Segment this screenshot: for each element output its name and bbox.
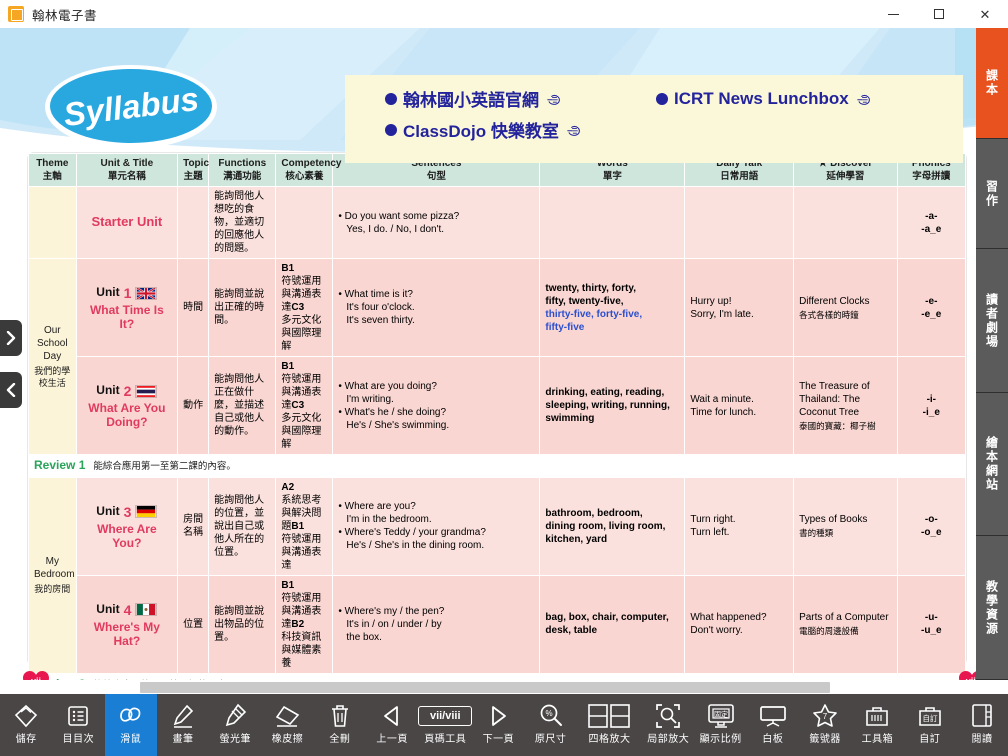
- toolbar-trash[interactable]: 全刪: [314, 694, 366, 756]
- table-header-4: Competency核心素養: [276, 154, 333, 187]
- competency-code: B2: [291, 619, 304, 630]
- competency-code: B1: [281, 361, 294, 372]
- bullet-icon: [385, 124, 397, 136]
- sentence-line: • Where are you?: [338, 500, 534, 513]
- unit-number: Unit 2: [96, 382, 157, 400]
- word-line: swimming: [545, 413, 594, 424]
- phonics-cell: -a--a_e: [897, 187, 965, 259]
- sentences-cell: • Where are you?I'm in the bedroom.• Whe…: [333, 477, 540, 575]
- sentence-line: • What's he / she doing?: [338, 406, 534, 419]
- table-header-0: Theme主軸: [29, 154, 77, 187]
- competency-code: C3: [291, 302, 304, 313]
- phonics-line: -o-: [925, 514, 938, 525]
- daily-talk-line: Time for lunch.: [690, 407, 756, 418]
- topic-cell: 動作: [178, 357, 209, 455]
- theme-cell: My Bedroom我的房間: [29, 477, 77, 673]
- whiteboard-icon: [759, 699, 787, 733]
- review-row: Review 2能綜合應用第三至第四課的內容。: [29, 673, 966, 680]
- table-row: Starter Unit能詢問他人想吃的食物，並適切的回應他人的問題。• Do …: [29, 187, 966, 259]
- table-header-1: Unit & Title單元名稱: [76, 154, 177, 187]
- words-cell: [540, 187, 685, 259]
- unit-title: Where's My Hat?: [82, 621, 172, 649]
- header-zh: 主題: [183, 171, 203, 183]
- rail-tab-label: 習作: [984, 180, 1001, 208]
- rail-tab-label: 讀者劇場: [984, 293, 1001, 349]
- links-row-1: 翰林國小英語官網 ICRT News Lunchbox: [385, 86, 963, 111]
- link-label: ICRT News Lunchbox: [674, 89, 849, 109]
- header-zh: 日常用語: [690, 171, 788, 183]
- phonics-line: -u_e: [921, 625, 942, 636]
- daily-talk-line: Sorry, I'm late.: [690, 309, 753, 320]
- maximize-button[interactable]: [916, 0, 962, 28]
- app-book-icon: [8, 6, 24, 22]
- svg-text:固定: 固定: [714, 710, 728, 719]
- theme-en: My Bedroom: [34, 556, 75, 580]
- sentence-line: • What time is it?: [338, 288, 534, 301]
- toolbar-label: 局部放大: [647, 735, 689, 745]
- eraser-icon: [275, 699, 301, 733]
- competency-desc: 多元文化與國際理解: [281, 413, 321, 450]
- trash-icon: [329, 699, 351, 733]
- daily-talk-line: Hurry up!: [690, 296, 731, 307]
- word-line: fifty, twenty-five,: [545, 296, 623, 307]
- toolbar-label: 橡皮擦: [272, 735, 304, 745]
- rail-tab-2[interactable]: 讀者劇場: [976, 249, 1008, 393]
- mouse-icon: [117, 699, 145, 733]
- header-en: Competency: [281, 158, 341, 169]
- phonics-line: -o_e: [921, 527, 942, 538]
- words-cell: bag, box, chair, computer,desk, table: [540, 575, 685, 673]
- competency-code: B1: [281, 580, 294, 591]
- heart-icon: vii: [22, 670, 50, 680]
- toolbar-quad-zoom[interactable]: 四格放大: [577, 694, 642, 756]
- daily-talk-cell: What happened?Don't worry.: [685, 575, 794, 673]
- custom-case-icon: 自訂: [917, 699, 943, 733]
- links-panel: 翰林國小英語官網 ICRT News Lunchbox ClassDojo 快樂…: [345, 75, 963, 163]
- toolbar-label: 原尺寸: [535, 735, 567, 745]
- bullet-icon: [385, 93, 397, 105]
- daily-talk-line: Don't worry.: [690, 625, 742, 636]
- toolbar-label: 下一頁: [483, 735, 515, 745]
- link-classdojo[interactable]: ClassDojo 快樂教室: [385, 117, 584, 142]
- sentences-cell: • What time is it?It's four o'clock.It's…: [333, 259, 540, 357]
- pointing-hand-icon: [545, 91, 564, 107]
- unit-num-value: 3: [124, 503, 132, 521]
- competency-cell: A2系統思考與解決問題B1符號運用與溝通表達: [276, 477, 333, 575]
- toolbar-label: 籤號器: [809, 735, 841, 745]
- toolbar-actual-size[interactable]: %原尺寸: [525, 694, 577, 756]
- sentence-line: It's four o'clock.: [338, 301, 534, 314]
- save-diamond-icon: [13, 699, 39, 733]
- daily-talk-line: What happened?: [690, 612, 766, 623]
- topic-cell: 時間: [178, 259, 209, 357]
- window-titlebar: 翰林電子書 ✕: [0, 0, 1008, 28]
- toolbar-eraser[interactable]: 橡皮擦: [261, 694, 313, 756]
- functions-cell: 能詢問他人正在做什麼，並描述自己或他人的動作。: [209, 357, 276, 455]
- toolbar-label: 全刪: [329, 735, 350, 745]
- chevron-left-icon: [6, 383, 16, 397]
- word-line: kitchen, yard: [545, 534, 607, 545]
- link-hanlin-english-site[interactable]: 翰林國小英語官網: [385, 86, 564, 111]
- discover-zh: 泰國的寶藏：椰子樹: [799, 421, 892, 432]
- toolbar-display-ratio[interactable]: 固定顯示比例: [694, 694, 746, 756]
- toolbar-label: 四格放大: [588, 735, 630, 745]
- word-line: drinking, eating, reading,: [545, 387, 664, 398]
- flag-uk-icon: [135, 287, 157, 300]
- phonics-cell: -u--u_e: [897, 575, 965, 673]
- phonics-line: -a_e: [921, 224, 941, 235]
- toolbar-whiteboard[interactable]: 白板: [747, 694, 799, 756]
- discover-cell: Different Clocks各式各樣的時鐘: [794, 259, 898, 357]
- word-line: fifty-five: [545, 322, 584, 333]
- discover-en: Types of Books: [799, 514, 867, 525]
- toolbar-label: 顯示比例: [700, 735, 742, 745]
- toolbar-label: 畫筆: [172, 735, 193, 745]
- daily-talk-line: Turn left.: [690, 527, 729, 538]
- phonics-cell: -o--o_e: [897, 477, 965, 575]
- functions-cell: 能詢問他人想吃的食物，並適切的回應他人的問題。: [209, 187, 276, 259]
- syllabus-table-wrapper: Theme主軸Unit & Title單元名稱Topic主題Functions溝…: [28, 153, 966, 665]
- table-row: Unit 4Where's My Hat?位置能詢問並說出物品的位置。B1符號運…: [29, 575, 966, 673]
- unit-title: Where Are You?: [82, 523, 172, 551]
- unit-number: Unit 1: [96, 284, 157, 302]
- window-title: 翰林電子書: [32, 5, 97, 24]
- region-zoom-icon: [655, 699, 681, 733]
- toc-list-icon: [66, 699, 90, 733]
- toolbar-region-zoom[interactable]: 局部放大: [642, 694, 694, 756]
- review-label: Review 1: [34, 458, 85, 472]
- sentences-cell: • Where's my / the pen?It's in / on / un…: [333, 575, 540, 673]
- theme-cell: Our School Day我們的學校生活: [29, 259, 77, 455]
- toolbar-highlighter[interactable]: 螢光筆: [209, 694, 261, 756]
- svg-text:自訂: 自訂: [922, 713, 937, 723]
- header-en: Topic: [183, 158, 209, 169]
- sentence-line: It's in / on / under / by: [338, 618, 534, 631]
- header-en: Theme: [36, 158, 68, 169]
- page-number-box: vii/viii: [418, 699, 472, 733]
- theme-zh: 我的房間: [34, 584, 71, 596]
- pen-icon: [171, 699, 195, 733]
- unit-num-value: 4: [124, 601, 132, 619]
- toolbar-pen[interactable]: 畫筆: [157, 694, 209, 756]
- daily-talk-cell: [685, 187, 794, 259]
- unit-title: What Time Is It?: [82, 304, 172, 332]
- highlighter-icon: [223, 699, 247, 733]
- competency-cell: [276, 187, 333, 259]
- flag-germany-icon: [135, 505, 157, 518]
- competency-code: B1: [281, 263, 294, 274]
- sentence-line: the box.: [338, 631, 534, 644]
- chevron-right-icon: [6, 331, 16, 345]
- sentence-line: • Do you want some pizza?: [338, 210, 534, 223]
- daily-talk-cell: Wait a minute.Time for lunch.: [685, 357, 794, 455]
- sentence-line: • Where's my / the pen?: [338, 605, 534, 618]
- toolbar-label: 螢光筆: [220, 735, 252, 745]
- header-zh: 核心素養: [281, 171, 327, 183]
- toolbar-label: 頁碼工具: [424, 735, 466, 745]
- sentence-line: I'm in the bedroom.: [338, 513, 534, 526]
- phonics-cell: -i--i_e: [897, 357, 965, 455]
- header-en: Unit & Title: [101, 158, 154, 169]
- phonics-line: -u-: [925, 612, 938, 623]
- unit-cell: Unit 2What Are You Doing?: [76, 357, 177, 455]
- words-cell: drinking, eating, reading,sleeping, writ…: [540, 357, 685, 455]
- prev-page-side-button[interactable]: [0, 372, 22, 408]
- competency-cell: B1符號運用與溝通表達C3多元文化與國際理解: [276, 259, 333, 357]
- page-number-left: vii seven: [22, 670, 76, 680]
- link-icrt-news-lunchbox[interactable]: ICRT News Lunchbox: [656, 89, 874, 109]
- words-cell: bathroom, bedroom,dining room, living ro…: [540, 477, 685, 575]
- toolbar-label: 上一頁: [376, 735, 408, 745]
- svg-text:7: 7: [823, 712, 828, 721]
- word-line: bag, box, chair, computer,: [545, 612, 668, 623]
- theme-zh: 我們的學校生活: [34, 366, 71, 389]
- toolbar-toc-list[interactable]: 目目次: [52, 694, 104, 756]
- table-row: My Bedroom我的房間Unit 3Where Are You?房間名稱能詢…: [29, 477, 966, 575]
- header-zh: 單元名稱: [82, 171, 172, 183]
- links-row-2: ClassDojo 快樂教室: [385, 117, 963, 142]
- toolbar-label: 工具箱: [862, 735, 894, 745]
- word-line: twenty, thirty, forty,: [545, 283, 636, 294]
- sentence-line: Yes, I do. / No, I don't.: [338, 223, 534, 236]
- scrollbar-thumb[interactable]: [140, 682, 830, 693]
- header-zh: 溝通功能: [214, 171, 270, 183]
- toolbar-label: 目目次: [63, 735, 95, 745]
- syllabus-table: Theme主軸Unit & Title單元名稱Topic主題Functions溝…: [28, 153, 966, 680]
- review-cell: Review 1能綜合應用第一至第二課的內容。: [29, 455, 966, 478]
- table-row: Unit 2What Are You Doing?動作能詢問他人正在做什麼，並描…: [29, 357, 966, 455]
- unit-cell: Unit 1What Time Is It?: [76, 259, 177, 357]
- review-text: 能綜合應用第一至第二課的內容。: [93, 461, 236, 472]
- competency-cell: B1符號運用與溝通表達C3多元文化與國際理解: [276, 357, 333, 455]
- theme-en: Our School Day: [37, 325, 68, 362]
- rail-tab-1[interactable]: 習作: [976, 139, 1008, 250]
- word-line: desk, table: [545, 625, 597, 636]
- discover-cell: Parts of a Computer電腦的周邊設備: [794, 575, 898, 673]
- competency-desc: 多元文化與國際理解: [281, 315, 321, 352]
- toolbar-custom-case[interactable]: 自訂自訂: [904, 694, 956, 756]
- page-word-right: eight: [937, 678, 955, 680]
- toolbox-icon: [864, 699, 890, 733]
- theme-cell: [29, 187, 77, 259]
- word-line: bathroom, bedroom,: [545, 508, 642, 519]
- competency-code: C3: [291, 400, 304, 411]
- functions-cell: 能詢問並說出正確的時間。: [209, 259, 276, 357]
- unit-number: Unit 4: [96, 601, 157, 619]
- bullet-icon: [656, 93, 668, 105]
- header-zh: 字母拼讀: [903, 171, 960, 183]
- daily-talk-cell: Turn right.Turn left.: [685, 477, 794, 575]
- rail-tab-label: 課本: [984, 69, 1001, 97]
- toolbar-prev-page[interactable]: 上一頁: [366, 694, 418, 756]
- unit-num-value: 2: [124, 382, 132, 400]
- review-cell: Review 2能綜合應用第三至第四課的內容。: [29, 673, 966, 680]
- discover-cell: [794, 187, 898, 259]
- next-page-icon: [486, 699, 510, 733]
- page-word-left: seven: [53, 678, 76, 680]
- page-roman-left: vii: [22, 670, 50, 680]
- header-en: Functions: [218, 158, 266, 169]
- unit-cell: Starter Unit: [76, 187, 177, 259]
- unit-cell: Unit 4Where's My Hat?: [76, 575, 177, 673]
- toolbar-toolbox[interactable]: 工具箱: [851, 694, 903, 756]
- unit-title: What Are You Doing?: [82, 402, 172, 430]
- unit-cell: Unit 3Where Are You?: [76, 477, 177, 575]
- daily-talk-line: Turn right.: [690, 514, 735, 525]
- display-ratio-icon: 固定: [707, 699, 735, 733]
- sentence-line: • Where's Teddy / your grandma?: [338, 526, 534, 539]
- phonics-line: -a-: [925, 211, 937, 222]
- link-label: ClassDojo 快樂教室: [403, 117, 559, 142]
- rail-tab-label: 繪本網站: [984, 436, 1001, 492]
- toolbar-label: 自訂: [919, 735, 940, 745]
- phonics-cell: -e--e_e: [897, 259, 965, 357]
- sentence-line: I'm writing.: [338, 393, 534, 406]
- starter-unit-title: Starter Unit: [91, 214, 162, 229]
- toolbar-next-page[interactable]: 下一頁: [472, 694, 524, 756]
- competency-code: B1: [291, 521, 304, 532]
- pointing-hand-icon: [855, 91, 874, 107]
- toolbar-label: 滑鼠: [120, 735, 141, 745]
- sentences-cell: • What are you doing?I'm writing.• What'…: [333, 357, 540, 455]
- word-line: dining room, living room,: [545, 521, 665, 532]
- daily-talk-line: Wait a minute.: [690, 394, 754, 405]
- competency-code: A2: [281, 482, 294, 493]
- topic-cell: 位置: [178, 575, 209, 673]
- window-controls: ✕: [870, 0, 1008, 28]
- side-tab-rail: 課本習作讀者劇場繪本網站教學資源: [976, 28, 1008, 680]
- sentence-line: It's seven thirty.: [338, 314, 534, 327]
- reading-book-icon: [970, 699, 994, 733]
- toolbar-reading-book[interactable]: 閱讀: [956, 694, 1008, 756]
- discover-zh: 電腦的周邊設備: [799, 626, 892, 637]
- toolbar-label: 儲存: [16, 735, 37, 745]
- bottom-toolbar: 儲存目目次滑鼠畫筆螢光筆橡皮擦全刪上一頁vii/viii頁碼工具下一頁%原尺寸四…: [0, 694, 1008, 756]
- actual-size-icon: %: [538, 699, 564, 733]
- table-header-2: Topic主題: [178, 154, 209, 187]
- header-zh: 句型: [338, 171, 534, 183]
- horizontal-scrollbar[interactable]: [0, 680, 1008, 694]
- header-zh: 延伸學習: [799, 171, 892, 183]
- functions-cell: 能詢問他人的位置，並說出自己或他人所在的位置。: [209, 477, 276, 575]
- discover-cell: Types of Books書的種類: [794, 477, 898, 575]
- toolbar-page-number-box[interactable]: vii/viii頁碼工具: [418, 694, 472, 756]
- competency-desc: 符號運用與溝通表達: [281, 534, 321, 571]
- rail-tab-0[interactable]: 課本: [976, 28, 1008, 139]
- phonics-line: -e_e: [921, 309, 941, 320]
- header-zh: 單字: [545, 171, 679, 183]
- functions-cell: 能詢問並說出物品的位置。: [209, 575, 276, 673]
- book-page-canvas: Syllabus 翰林國小英語官網 ICRT News Lunchbox: [0, 28, 1008, 680]
- unit-number: Unit 3: [96, 503, 157, 521]
- toolbar-star-number[interactable]: 7籤號器: [799, 694, 851, 756]
- word-line: sleeping, writing, running,: [545, 400, 669, 411]
- pointing-hand-icon: [565, 122, 584, 138]
- table-header-3: Functions溝通功能: [209, 154, 276, 187]
- minimize-button[interactable]: [870, 0, 916, 28]
- page-indicator[interactable]: vii/viii: [418, 706, 472, 726]
- discover-zh: 各式各樣的時鐘: [799, 310, 892, 321]
- rail-tab-4[interactable]: 教學資源: [976, 536, 1008, 680]
- daily-talk-cell: Hurry up!Sorry, I'm late.: [685, 259, 794, 357]
- toolbar-label: 白板: [762, 735, 783, 745]
- prev-page-icon: [380, 699, 404, 733]
- rail-tab-3[interactable]: 繪本網站: [976, 393, 1008, 537]
- toolbar-mouse[interactable]: 滑鼠: [105, 694, 157, 756]
- link-label: 翰林國小英語官網: [403, 86, 539, 111]
- table-body: Starter Unit能詢問他人想吃的食物，並適切的回應他人的問題。• Do …: [29, 187, 966, 680]
- header-zh: 主軸: [34, 171, 71, 183]
- topic-cell: 房間名稱: [178, 477, 209, 575]
- syllabus-badge: Syllabus: [42, 60, 220, 152]
- next-page-side-button[interactable]: [0, 320, 22, 356]
- close-button[interactable]: ✕: [962, 0, 1008, 28]
- table-row: Our School Day我們的學校生活Unit 1What Time Is …: [29, 259, 966, 357]
- flag-mexico-icon: [135, 603, 157, 616]
- toolbar-label: 閱讀: [971, 735, 992, 745]
- words-cell: twenty, thirty, forty,fifty, twenty-five…: [540, 259, 685, 357]
- flag-thailand-icon: [135, 385, 157, 398]
- word-line: thirty-five, forty-five,: [545, 309, 642, 320]
- discover-zh: 書的種類: [799, 528, 892, 539]
- discover-en: The Treasure of Thailand: The Coconut Tr…: [799, 381, 870, 418]
- rail-tab-label: 教學資源: [984, 580, 1001, 636]
- svg-text:%: %: [545, 709, 552, 718]
- sentence-line: He's / She's in the dining room.: [338, 539, 534, 552]
- toolbar-save-diamond[interactable]: 儲存: [0, 694, 52, 756]
- competency-cell: B1符號運用與溝通表達B2科技資訊與媒體素養: [276, 575, 333, 673]
- discover-en: Different Clocks: [799, 296, 869, 307]
- unit-num-value: 1: [124, 284, 132, 302]
- competency-desc: 科技資訊與媒體素養: [281, 632, 321, 669]
- sentences-cell: • Do you want some pizza?Yes, I do. / No…: [333, 187, 540, 259]
- phonics-line: -i-: [927, 394, 936, 405]
- phonics-line: -e-: [925, 296, 937, 307]
- star-number-icon: 7: [811, 699, 839, 733]
- sentence-line: • What are you doing?: [338, 380, 534, 393]
- review-row: Review 1能綜合應用第一至第二課的內容。: [29, 455, 966, 478]
- sentence-line: He's / She's swimming.: [338, 419, 534, 432]
- discover-en: Parts of a Computer: [799, 612, 888, 623]
- phonics-line: -i_e: [923, 407, 940, 418]
- discover-cell: The Treasure of Thailand: The Coconut Tr…: [794, 357, 898, 455]
- quad-zoom-icon: [588, 699, 630, 733]
- topic-cell: [178, 187, 209, 259]
